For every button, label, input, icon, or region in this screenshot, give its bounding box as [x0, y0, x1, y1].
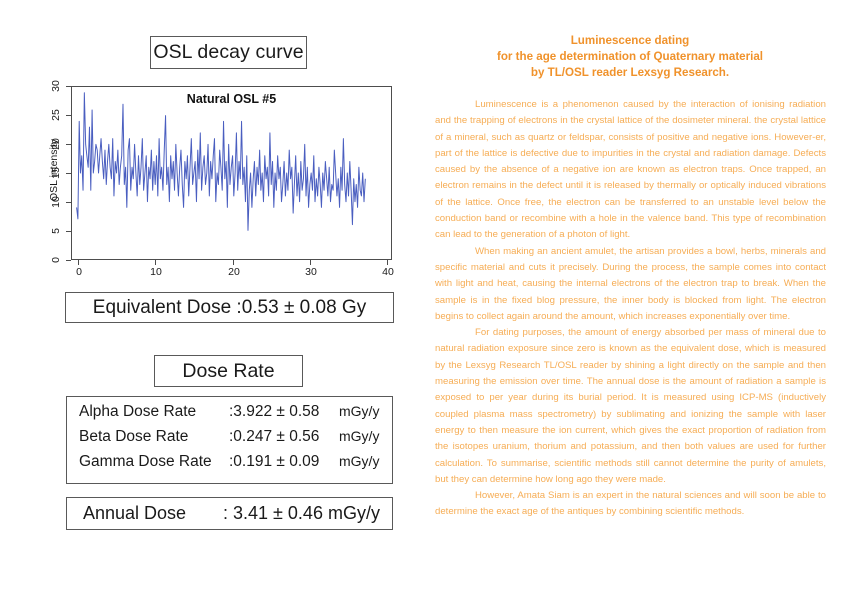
y-tick-label-0: 0	[50, 249, 62, 271]
osl-decay-curve-title-box: OSL decay curve	[150, 36, 307, 69]
x-tick-mark-30	[310, 260, 311, 265]
x-tick-label-20: 20	[222, 266, 246, 278]
article-body: Luminescence is a phenomenon caused by t…	[435, 97, 826, 521]
equivalent-dose-value: Equivalent Dose :0.53 ± 0.08 Gy	[93, 297, 366, 319]
x-tick-label-10: 10	[144, 266, 168, 278]
beta-dose-rate-value: :0.247 ± 0.56	[229, 428, 339, 446]
annual-dose-label: Annual Dose	[83, 503, 223, 524]
equivalent-dose-box: Equivalent Dose :0.53 ± 0.08 Gy	[65, 292, 394, 323]
alpha-dose-rate-label: Alpha Dose Rate	[79, 403, 229, 421]
beta-dose-rate-label: Beta Dose Rate	[79, 428, 229, 446]
x-tick-label-30: 30	[299, 266, 323, 278]
table-row: Alpha Dose Rate :3.922 ± 0.58 mGy/y	[67, 403, 392, 428]
y-tick-label-10: 10	[50, 191, 62, 213]
osl-decay-polyline-svg	[72, 87, 391, 259]
x-tick-label-0: 0	[67, 266, 91, 278]
article-panel: Luminescence dating for the age determin…	[432, 0, 832, 595]
x-tick-label-40: 40	[376, 266, 400, 278]
y-tick-label-5: 5	[50, 220, 62, 242]
article-paragraph: Luminescence is a phenomenon caused by t…	[435, 97, 826, 244]
article-title-line-1: Luminescence dating	[432, 33, 828, 49]
article-title-line-3: by TL/OSL reader Lexsyg Research.	[432, 65, 828, 81]
beta-dose-rate-unit: mGy/y	[339, 428, 379, 444]
article-title: Luminescence dating for the age determin…	[432, 33, 828, 81]
table-row: Beta Dose Rate :0.247 ± 0.56 mGy/y	[67, 428, 392, 453]
gamma-dose-rate-label: Gamma Dose Rate	[79, 453, 229, 471]
table-row: Gamma Dose Rate :0.191 ± 0.09 mGy/y	[67, 453, 392, 478]
article-paragraph: For dating purposes, the amount of energ…	[435, 325, 826, 488]
y-tick-mark-0	[66, 260, 71, 261]
x-tick-mark-20	[233, 260, 234, 265]
article-paragraph: However, Amata Siam is an expert in the …	[435, 488, 826, 521]
y-tick-label-30: 30	[50, 75, 62, 97]
article-paragraph: When making an ancient amulet, the artis…	[435, 244, 826, 325]
y-tick-label-15: 15	[50, 162, 62, 184]
osl-report-panel: OSL decay curve OSL intensity 0 5 10 15 …	[0, 0, 420, 595]
y-tick-label-20: 20	[50, 133, 62, 155]
gamma-dose-rate-unit: mGy/y	[339, 453, 379, 469]
osl-decay-curve-title: OSL decay curve	[153, 41, 303, 64]
annual-dose-value: : 3.41 ± 0.46 mGy/y	[223, 503, 380, 524]
dose-rate-title: Dose Rate	[182, 360, 274, 383]
x-tick-mark-10	[155, 260, 156, 265]
chart-plot-area	[71, 86, 392, 260]
gamma-dose-rate-value: :0.191 ± 0.09	[229, 453, 339, 471]
dose-rate-table: Alpha Dose Rate :3.922 ± 0.58 mGy/y Beta…	[66, 396, 393, 484]
annual-dose-box: Annual Dose : 3.41 ± 0.46 mGy/y	[66, 497, 393, 530]
x-tick-mark-0	[78, 260, 79, 265]
osl-decay-chart: OSL intensity 0 5 10 15 20 25 30 Natural…	[20, 78, 410, 283]
dose-rate-title-box: Dose Rate	[154, 355, 303, 387]
article-title-line-2: for the age determination of Quaternary …	[432, 49, 828, 65]
y-tick-label-25: 25	[50, 104, 62, 126]
alpha-dose-rate-unit: mGy/y	[339, 403, 379, 419]
alpha-dose-rate-value: :3.922 ± 0.58	[229, 403, 339, 421]
x-tick-mark-40	[387, 260, 388, 265]
